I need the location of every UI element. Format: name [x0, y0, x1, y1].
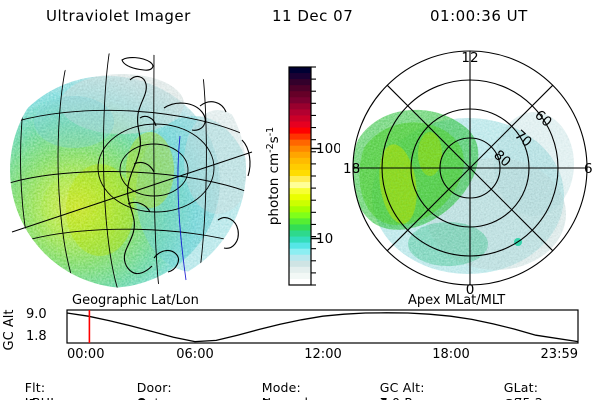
apex-mlt-label-18: 18: [343, 161, 360, 177]
status-gain: Gain: 14: [120, 381, 171, 400]
status-seq: Seq: 39: [363, 381, 408, 400]
status-glon: GLon: 243.9: [487, 381, 541, 400]
colorbar-band: [289, 224, 311, 231]
colorbar-band: [289, 73, 311, 80]
colorbar-band: [289, 249, 311, 256]
colorbar-band: [289, 243, 311, 250]
colorbar-tick-marks: [311, 67, 320, 285]
colorbar-band: [289, 140, 311, 147]
ultraviolet-imager-window: Ultraviolet Imager 11 Dec 07 01:00:36 UT: [0, 0, 600, 400]
orbit-altitude-panel[interactable]: Geographic Lat/Lon Apex MLat/MLT GC Alt …: [0, 292, 600, 360]
geographic-aurora-data: [4, 44, 260, 296]
colorbar-band: [289, 231, 311, 238]
orbit-y-axis-label: GC Alt: [2, 310, 17, 351]
orbit-ytick-9: 9.0: [26, 307, 47, 322]
colorbar-band: [289, 261, 311, 268]
status-dsp-label: Dsp:: [262, 396, 291, 400]
apex-aurora-data: [338, 44, 600, 296]
orbit-xtick-1: 06:00: [176, 347, 213, 360]
colorbar-band: [289, 115, 311, 122]
colorbar-label-mid: s: [266, 136, 282, 143]
colorbar-band: [289, 128, 311, 135]
colorbar-band: [289, 103, 311, 110]
apex-polar-grid: [353, 51, 587, 285]
colorbar-band: [289, 109, 311, 116]
observation-date: 11 Dec 07: [272, 7, 353, 25]
colorbar-band: [289, 255, 311, 262]
colorbar-band: [289, 188, 311, 195]
colorbar-band: [289, 91, 311, 98]
colorbar-label-main: photon cm: [266, 153, 282, 225]
svg-text:photon cm-2s-1: photon cm-2s-1: [265, 127, 283, 225]
observation-time: 01:00:36 UT: [430, 7, 528, 25]
geographic-image-panel[interactable]: [4, 44, 260, 296]
orbit-xtick-0: 00:00: [67, 347, 104, 360]
colorbar-band: [289, 267, 311, 274]
colorbar-band: [289, 152, 311, 159]
colorbar-band: [289, 194, 311, 201]
colorbar-panel: photon cm-2s-1 100 10: [258, 58, 340, 294]
colorbar-band: [289, 170, 311, 177]
colorbar-band: [289, 122, 311, 129]
status-gain-label: Gain:: [137, 396, 171, 400]
colorbar-tick-label-10: 10: [316, 231, 333, 247]
colorbar-band: [289, 273, 311, 280]
colorbar-band: [289, 134, 311, 141]
status-ip-label: IP:: [25, 396, 41, 400]
status-ip: IP: 36.0: [8, 381, 53, 400]
orbit-xtick-3: 18:00: [432, 347, 469, 360]
colorbar-band: [289, 85, 311, 92]
colorbar-band: [289, 79, 311, 86]
colorbar-band: [289, 206, 311, 213]
colorbar-band: [289, 200, 311, 207]
status-glon-label: GLon:: [504, 396, 541, 400]
colorbar-band: [289, 158, 311, 165]
colorbar-gradient: [289, 67, 311, 286]
colorbar-band: [289, 97, 311, 104]
page-title: Ultraviolet Imager: [46, 7, 191, 25]
colorbar-band: [289, 176, 311, 183]
colorbar-band: [289, 212, 311, 219]
colorbar-band: [289, 218, 311, 225]
colorbar-band: [289, 164, 311, 171]
colorbar-band: [289, 146, 311, 153]
colorbar-tick-label-100: 100: [316, 141, 340, 157]
geographic-panel-title: Geographic Lat/Lon: [72, 293, 199, 308]
colorbar-axis-label: photon cm-2s-1: [265, 127, 283, 225]
status-seq-label: Seq:: [380, 396, 409, 400]
status-dsp: Dsp: 4.3: [245, 381, 291, 400]
apex-polar-panel[interactable]: 12 18 6 0 60 70 80: [338, 44, 600, 296]
colorbar-band: [289, 237, 311, 244]
apex-panel-title: Apex MLat/MLT: [408, 293, 505, 308]
colorbar-label-exp1: -2: [265, 143, 276, 152]
colorbar-label-exp2: -1: [265, 127, 276, 136]
orbit-xtick-2: 12:00: [304, 347, 341, 360]
orbit-xtick-4: 23:59: [541, 347, 578, 360]
apex-mlt-label-12: 12: [461, 50, 478, 66]
svg-text:GC Alt: GC Alt: [2, 310, 17, 351]
orbit-ytick-1-8: 1.8: [26, 329, 47, 344]
apex-mlt-label-6: 6: [584, 161, 593, 177]
orbit-altitude-curve: [67, 313, 578, 342]
colorbar-band: [289, 182, 311, 189]
colorbar-band: [289, 67, 311, 74]
